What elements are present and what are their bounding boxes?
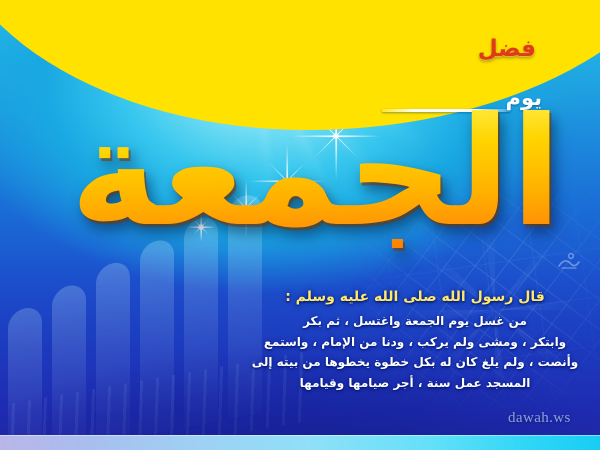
hadith-attribution: قال رسول الله صلى الله عليه وسلم : bbox=[250, 288, 580, 307]
hadith-line: المسجد عمل سنة ، أجر صيامها وقيامها bbox=[250, 375, 580, 392]
hadith-line: من غسل يوم الجمعة واغتسل ، ثم بكر bbox=[250, 313, 580, 330]
watermark: dawah.ws bbox=[508, 410, 571, 427]
bottom-accent-strip bbox=[0, 435, 600, 450]
calligraphy-emblem-icon bbox=[556, 250, 582, 272]
islamic-greeting-poster: فضل يوم الجمعة قال رسول الله صلى الله عل… bbox=[0, 0, 600, 450]
hadith-text-block: قال رسول الله صلى الله عليه وسلم : من غس… bbox=[250, 288, 580, 396]
hadith-line: وابتكر ، ومشى ولم يركب ، ودنا من الإمام … bbox=[250, 334, 580, 351]
hadith-line: وأنصت ، ولم يلغ كان له بكل خطوة يخطوها م… bbox=[250, 354, 580, 371]
